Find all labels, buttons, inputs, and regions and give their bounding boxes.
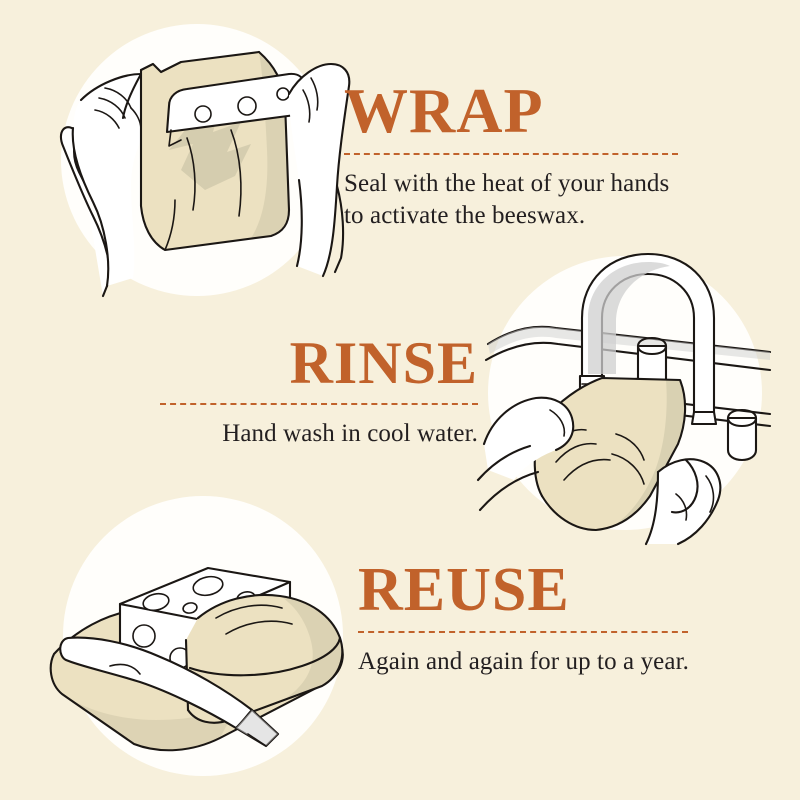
illustration-circle-reuse xyxy=(63,496,343,776)
step-heading-rinse: RINSE xyxy=(148,336,478,391)
infographic-poster: WRAP Seal with the heat of your hands to… xyxy=(0,0,800,800)
step-body-rinse: Hand wash in cool water. xyxy=(148,418,478,450)
step-heading-wrap: WRAP xyxy=(344,82,692,141)
step-heading-reuse: REUSE xyxy=(358,562,698,619)
divider-reuse xyxy=(358,631,688,633)
illustration-circle-wrap xyxy=(61,24,333,296)
illustration-circle-rinse xyxy=(488,256,762,530)
divider-wrap xyxy=(344,153,678,155)
step-text-rinse: RINSE Hand wash in cool water. xyxy=(148,336,478,450)
step-text-wrap: WRAP Seal with the heat of your hands to… xyxy=(344,82,692,232)
step-body-reuse: Again and again for up to a year. xyxy=(358,646,698,678)
step-text-reuse: REUSE Again and again for up to a year. xyxy=(358,562,698,678)
step-body-wrap: Seal with the heat of your hands to acti… xyxy=(344,168,692,232)
divider-rinse xyxy=(160,403,478,405)
